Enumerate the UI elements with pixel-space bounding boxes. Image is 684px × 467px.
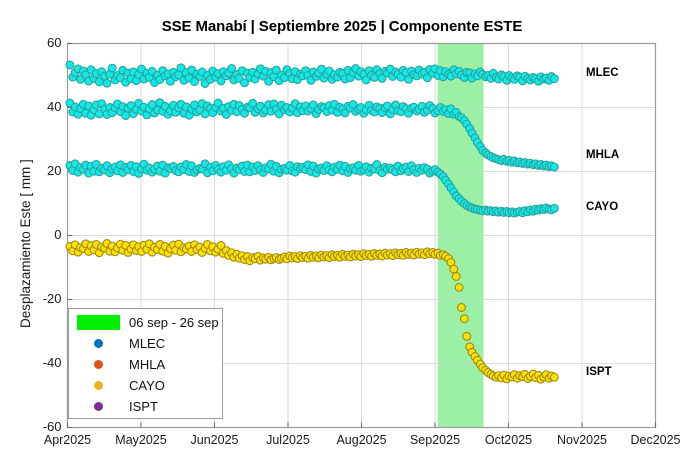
- y-tick-label: 20: [22, 163, 62, 178]
- x-tick-label: Sep2025: [396, 433, 474, 447]
- legend-item-mhla[interactable]: MHLA: [69, 354, 222, 375]
- legend-label-cayo: CAYO: [129, 379, 165, 392]
- legend[interactable]: 06 sep - 26 sepMLECMHLACAYOISPT: [68, 308, 223, 419]
- series-mlec: [66, 61, 558, 87]
- x-tick-label: Jul2025: [249, 433, 327, 447]
- legend-marker-mlec-icon: [77, 336, 120, 351]
- x-tick-label: Aug2025: [323, 433, 401, 447]
- legend-label-band: 06 sep - 26 sep: [129, 316, 219, 329]
- x-tick-label: Dec2025: [617, 433, 684, 447]
- series-mhla: [66, 99, 558, 171]
- legend-label-ispt: ISPT: [129, 400, 158, 413]
- station-label-ispt: ISPT: [586, 366, 612, 378]
- y-tick-label: -40: [22, 355, 62, 370]
- x-tick-label: Oct2025: [470, 433, 548, 447]
- legend-swatch-band: [77, 315, 120, 330]
- legend-marker-mhla-icon: [77, 357, 120, 372]
- legend-marker-cayo-icon: [77, 378, 120, 393]
- legend-item-cayo[interactable]: CAYO: [69, 375, 222, 396]
- figure-container: SSE Manabí | Septiembre 2025 | Component…: [0, 0, 684, 467]
- x-tick-label: Apr2025: [29, 433, 107, 447]
- station-label-mlec: MLEC: [586, 67, 619, 79]
- legend-item-mlec[interactable]: MLEC: [69, 333, 222, 354]
- y-tick-label: 0: [22, 227, 62, 242]
- x-tick-label: Nov2025: [543, 433, 621, 447]
- station-label-mhla: MHLA: [586, 149, 619, 161]
- legend-item-band[interactable]: 06 sep - 26 sep: [69, 312, 222, 333]
- y-tick-label: 40: [22, 99, 62, 114]
- y-tick-label: -20: [22, 291, 62, 306]
- legend-item-ispt[interactable]: ISPT: [69, 396, 222, 417]
- y-tick-label: -60: [22, 419, 62, 434]
- x-tick-label: May2025: [102, 433, 180, 447]
- x-tick-label: Jun2025: [176, 433, 254, 447]
- legend-label-mlec: MLEC: [129, 337, 165, 350]
- series-cayo: [66, 160, 558, 217]
- legend-marker-ispt-icon: [77, 399, 120, 414]
- y-tick-label: 60: [22, 35, 62, 50]
- legend-label-mhla: MHLA: [129, 358, 165, 371]
- station-label-cayo: CAYO: [586, 201, 618, 213]
